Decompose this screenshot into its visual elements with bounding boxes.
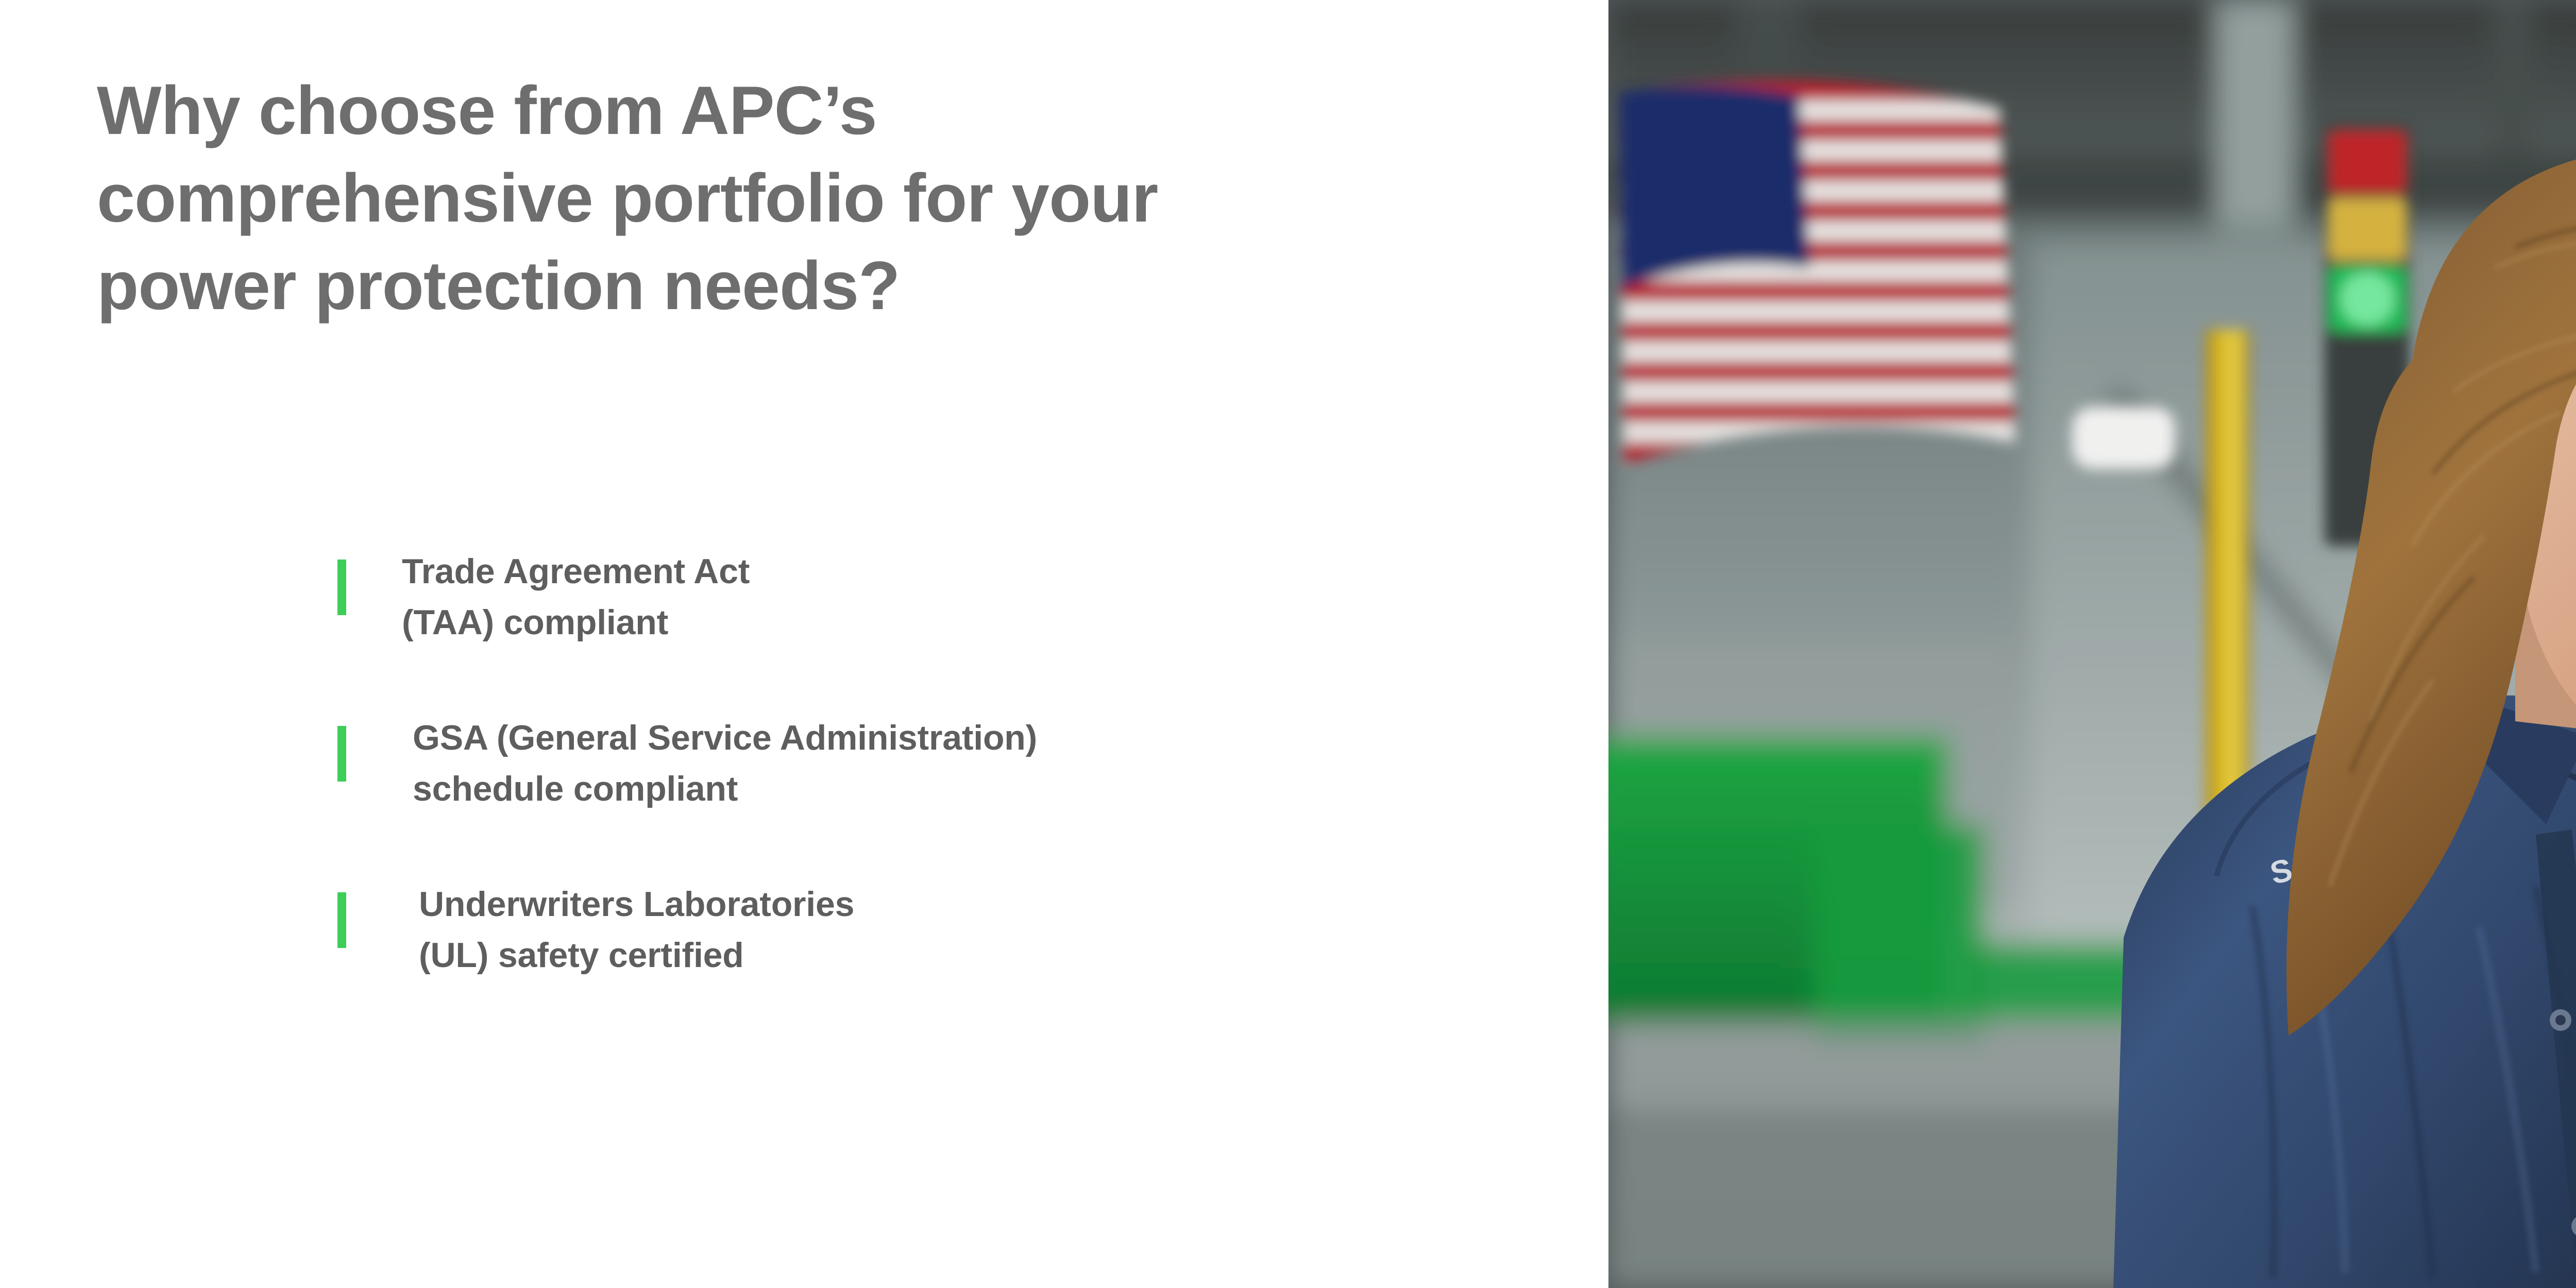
headline-line-1: Why choose from APC’s	[97, 67, 1436, 155]
accent-bar-icon	[337, 892, 346, 948]
benefits-list: Trade Agreement Act (TAA) compliant GSA …	[337, 546, 1522, 981]
hero-photo-illustration: Schneider Electric	[1608, 0, 2576, 1288]
list-item-line-2: (UL) safety certified	[419, 930, 1522, 981]
list-item: GSA (General Service Administration) sch…	[337, 713, 1522, 814]
list-item: Trade Agreement Act (TAA) compliant	[337, 546, 1522, 648]
list-item-label: GSA (General Service Administration) sch…	[337, 713, 1522, 814]
accent-bar-icon	[337, 726, 346, 782]
accent-bar-icon	[337, 560, 346, 615]
page-title: Why choose from APC’s comprehensive port…	[97, 67, 1436, 330]
list-item-line-2: (TAA) compliant	[402, 597, 1522, 648]
headline-line-2: comprehensive portfolio for your	[97, 155, 1436, 242]
left-content-panel: Why choose from APC’s comprehensive port…	[0, 0, 1608, 1288]
list-item-label: Trade Agreement Act (TAA) compliant	[337, 546, 1522, 648]
hero-photo: Schneider Electric	[1608, 0, 2576, 1288]
list-item: Underwriters Laboratories (UL) safety ce…	[337, 879, 1522, 980]
list-item-line-2: schedule compliant	[413, 764, 1522, 815]
list-item-line-1: Trade Agreement Act	[402, 546, 1522, 597]
list-item-label: Underwriters Laboratories (UL) safety ce…	[337, 879, 1522, 980]
list-item-line-1: GSA (General Service Administration)	[413, 713, 1522, 764]
slide-root: Why choose from APC’s comprehensive port…	[0, 0, 2576, 1288]
list-item-line-1: Underwriters Laboratories	[419, 879, 1522, 930]
headline-line-3: power protection needs?	[97, 242, 1436, 330]
